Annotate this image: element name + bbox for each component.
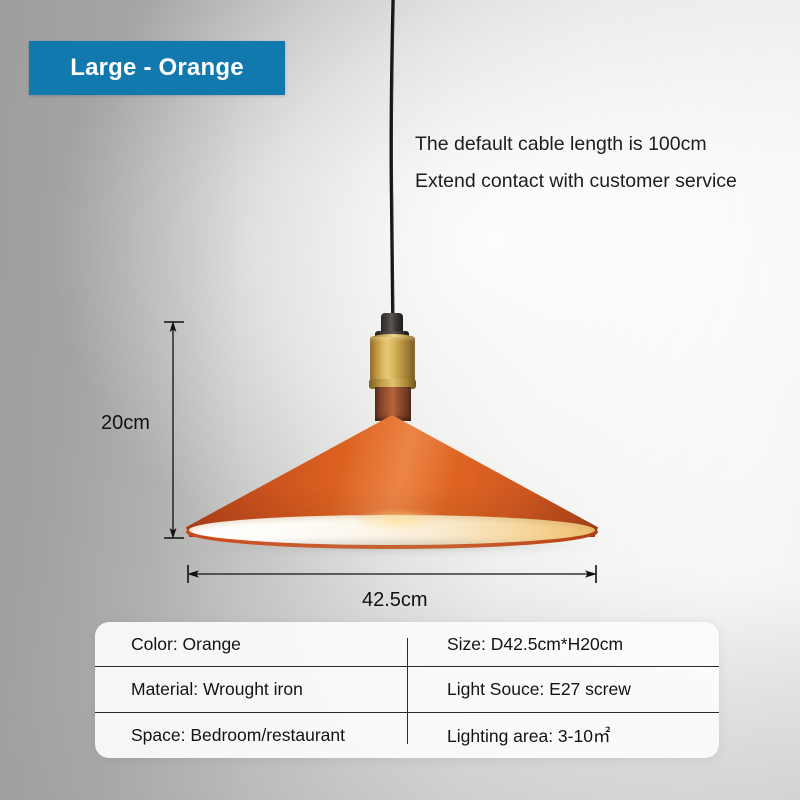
specifications-card: Color: Orange Size: D42.5cm*H20cm Materi…: [95, 622, 719, 758]
shade-bulb-glow: [356, 511, 442, 529]
shade-drop-shadow: [196, 538, 588, 554]
width-dimension-line: [178, 562, 608, 588]
width-dimension-label: 42.5cm: [362, 589, 428, 612]
product-image-scene: Large - Orange The default cable length …: [0, 0, 800, 800]
spec-color: Color: Orange: [95, 622, 407, 667]
cable-length-note: The default cable length is 100cm: [415, 133, 707, 156]
spec-column-divider: [407, 638, 408, 744]
spec-material: Material: Wrought iron: [95, 667, 407, 712]
spec-lighting-area: Lighting area: 3-10㎡: [407, 713, 719, 758]
spec-light-source: Light Souce: E27 screw: [407, 667, 719, 712]
lamp-shade: [186, 415, 598, 550]
height-dimension-line: [150, 312, 196, 552]
spec-space: Space: Bedroom/restaurant: [95, 713, 407, 758]
pendant-cable: [380, 0, 406, 326]
variant-badge-label: Large - Orange: [70, 54, 244, 82]
variant-badge: Large - Orange: [29, 41, 285, 95]
customer-service-note: Extend contact with customer service: [415, 170, 737, 193]
height-dimension-label: 20cm: [101, 412, 150, 435]
spec-size: Size: D42.5cm*H20cm: [407, 622, 719, 667]
